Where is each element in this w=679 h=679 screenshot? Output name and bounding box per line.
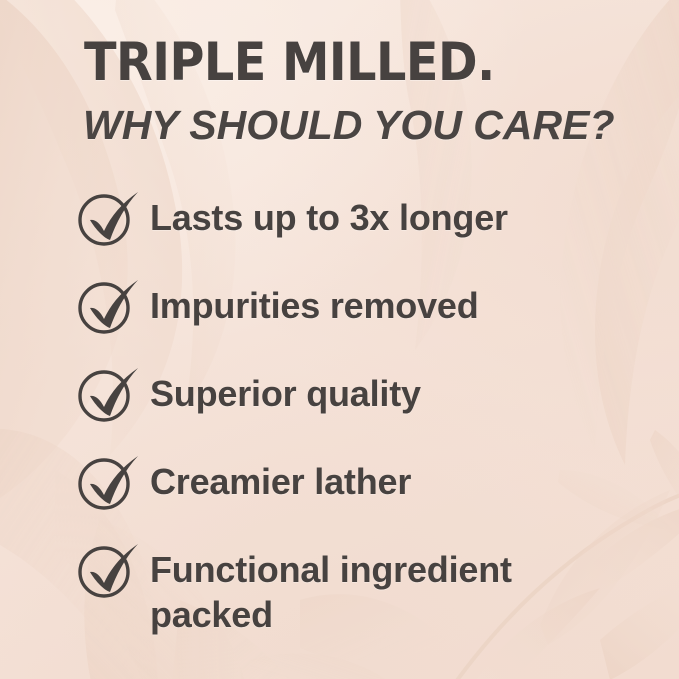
circled-check-icon bbox=[76, 190, 142, 250]
page-title: TRIPLE MILLED. bbox=[84, 36, 495, 89]
list-item: Functional ingredient packed bbox=[0, 538, 679, 637]
list-item: Impurities removed bbox=[0, 274, 679, 362]
circled-check-icon bbox=[76, 366, 142, 426]
list-item: Superior quality bbox=[0, 362, 679, 450]
list-item: Lasts up to 3x longer bbox=[0, 186, 679, 274]
benefits-list: Lasts up to 3x longer Impurities removed bbox=[0, 186, 679, 637]
circled-check-icon bbox=[76, 454, 142, 514]
list-item-label: Functional ingredient packed bbox=[150, 538, 580, 637]
list-item-label: Creamier lather bbox=[150, 450, 411, 504]
list-item: Creamier lather bbox=[0, 450, 679, 538]
infographic-poster: TRIPLE MILLED. WHY SHOULD YOU CARE? Last… bbox=[0, 0, 679, 679]
circled-check-icon bbox=[76, 278, 142, 338]
page-subtitle: WHY SHOULD YOU CARE? bbox=[83, 105, 615, 146]
list-item-label: Impurities removed bbox=[150, 274, 479, 328]
list-item-label: Superior quality bbox=[150, 362, 421, 416]
circled-check-icon bbox=[76, 542, 142, 602]
list-item-label: Lasts up to 3x longer bbox=[150, 186, 508, 240]
